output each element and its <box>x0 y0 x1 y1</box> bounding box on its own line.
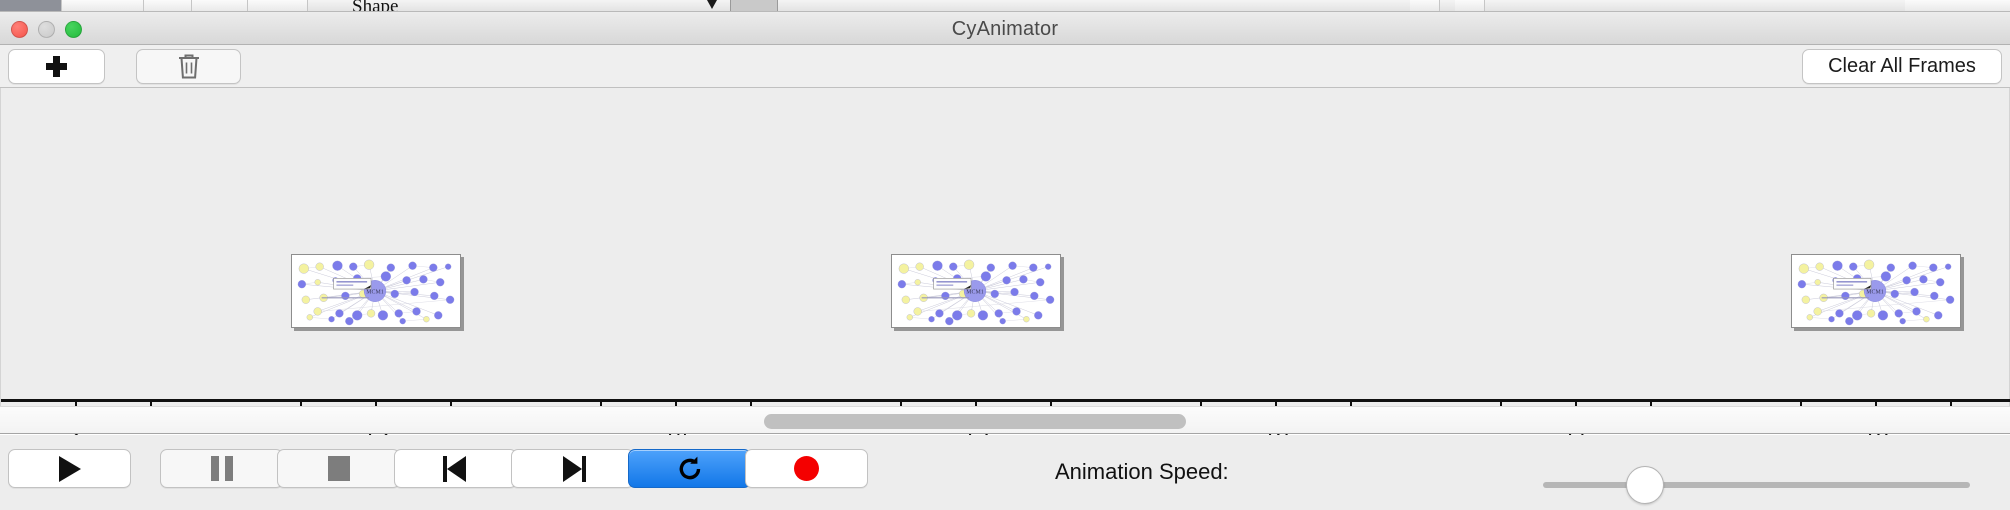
timeline-axis <box>1 399 2010 402</box>
playback-control-bar: Animation Speed: <box>0 435 2010 510</box>
title-bar: CyAnimator <box>0 12 2010 45</box>
animation-speed-label: Animation Speed: <box>1055 459 1229 485</box>
skip-backward-icon <box>443 456 469 482</box>
svg-text:MCM1: MCM1 <box>1866 290 1884 296</box>
animation-speed-slider-handle[interactable] <box>1626 466 1664 504</box>
window-title: CyAnimator <box>0 18 2010 41</box>
plus-icon <box>46 56 67 77</box>
frame-thumbnail[interactable]: MCM1 <box>891 254 1061 328</box>
svg-text:MCM1: MCM1 <box>966 290 984 296</box>
skip-forward-icon <box>560 456 586 482</box>
loop-icon <box>675 454 705 484</box>
bg-tab <box>1455 0 1485 12</box>
frame-thumbnail[interactable]: MCM1 <box>291 254 461 328</box>
clear-all-frames-button[interactable]: Clear All Frames <box>1802 49 2002 84</box>
toolbar: Clear All Frames <box>0 45 2010 88</box>
delete-frame-button[interactable] <box>136 49 241 84</box>
pause-icon <box>211 456 233 481</box>
bg-tab <box>62 0 144 12</box>
pause-button[interactable] <box>160 449 283 488</box>
next-frame-button[interactable] <box>511 449 634 488</box>
bg-tab <box>144 0 192 12</box>
play-icon <box>59 456 81 482</box>
animation-speed-slider[interactable] <box>1543 482 1970 488</box>
scrollbar-thumb[interactable] <box>764 414 1186 429</box>
trash-icon <box>177 53 201 80</box>
bg-chip <box>730 0 778 12</box>
bg-window-label: Shape <box>352 0 398 12</box>
bg-marker-icon <box>707 0 717 9</box>
frame-thumbnail[interactable]: MCM1 <box>1791 254 1961 328</box>
play-button[interactable] <box>8 449 131 488</box>
bg-tab <box>1410 0 1440 12</box>
bg-tab <box>1905 0 2010 12</box>
stop-button[interactable] <box>277 449 400 488</box>
timeline-scrollbar[interactable] <box>0 406 2010 434</box>
timeline-panel[interactable]: MCM1MCM1MCM1 2131415161718 Seconds <box>0 88 2010 406</box>
cyanimator-window: Shape CyAnimator Clear All Frames <box>0 0 2010 510</box>
previous-frame-button[interactable] <box>394 449 517 488</box>
stop-icon <box>328 456 350 481</box>
background-window-strip: Shape <box>0 0 2010 12</box>
svg-text:MCM1: MCM1 <box>366 290 384 296</box>
bg-tab <box>248 0 308 12</box>
bg-tab <box>192 0 248 12</box>
add-frame-button[interactable] <box>8 49 105 84</box>
record-button[interactable] <box>745 449 868 488</box>
bg-selected-tab <box>0 0 62 12</box>
loop-button[interactable] <box>628 449 751 488</box>
record-icon <box>794 456 819 481</box>
